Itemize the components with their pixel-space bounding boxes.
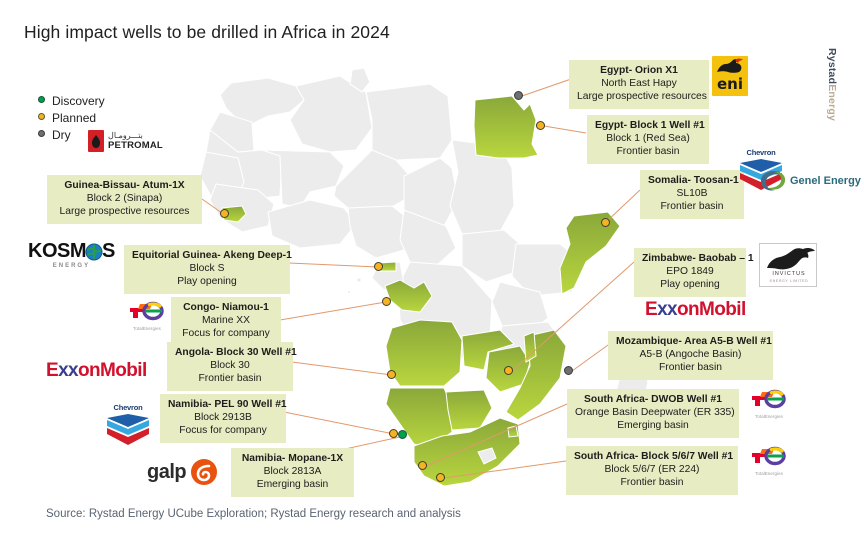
- marker-angola-block30[interactable]: [387, 370, 396, 379]
- callout-mozambique-a5b[interactable]: Mozambique- Area A5-B Well #1 A5-B (Ango…: [608, 331, 773, 380]
- exxon-e: E: [645, 299, 657, 320]
- legend-label-dry: Dry: [52, 128, 71, 142]
- kosmos-tagline: ENERGY: [28, 263, 115, 269]
- callout-line2: Block 2813A: [239, 465, 346, 478]
- callout-title: Mozambique- Area A5-B Well #1: [616, 335, 765, 348]
- totalenergies-wordmark: TotalEnergies: [748, 414, 790, 419]
- discovery-dot-icon: [38, 96, 45, 103]
- logo-exxonmobil-angola: ExxonMobil: [46, 360, 147, 382]
- marker-namibia-mopane[interactable]: [398, 430, 407, 439]
- callout-egypt-orion[interactable]: Egypt- Orion X1 North East Hapy Large pr…: [569, 60, 709, 109]
- callout-title: South Africa- DWOB Well #1: [575, 393, 731, 406]
- callout-line2: A5-B (Angoche Basin): [616, 348, 765, 361]
- logo-invictus-energy: INVICTUS ENERGY LIMITED: [759, 243, 817, 287]
- exxon-on: on: [677, 299, 699, 320]
- totalenergies-wordmark: TotalEnergies: [126, 326, 168, 331]
- kosmos-globe-icon: [85, 243, 103, 261]
- callout-angola-block30[interactable]: Angola- Block 30 Well #1 Block 30 Fronti…: [167, 342, 293, 391]
- leader-somalia: [606, 190, 640, 222]
- callout-line3: Emerging basin: [239, 478, 346, 491]
- callout-line2: EPO 1849: [642, 265, 738, 278]
- chevron-wordmark: Chevron: [738, 148, 784, 157]
- totalenergies-mark-icon: [126, 300, 168, 322]
- callout-line2: Block 2913B: [168, 411, 278, 424]
- callout-line2: Block 5/6/7 (ER 224): [574, 463, 730, 476]
- invictus-tagline: ENERGY LIMITED: [760, 279, 818, 283]
- logo-genel-energy: Genel Energy: [758, 168, 861, 194]
- totalenergies-mark-icon: [748, 445, 790, 467]
- callout-line2: Block 1 (Red Sea): [595, 132, 701, 145]
- marker-namibia-pel90[interactable]: [389, 429, 398, 438]
- callout-line2: Block 30: [175, 359, 285, 372]
- leader-angola: [292, 362, 392, 375]
- callout-guinea-bissau-atum[interactable]: Guinea-Bissau- Atum-1X Block 2 (Sinapa) …: [47, 175, 202, 224]
- callout-line3: Emerging basin: [575, 419, 731, 432]
- callout-line3: Focus for company: [168, 424, 278, 437]
- callout-title: Namibia- Mopane-1X: [239, 452, 346, 465]
- callout-title: Zimbabwe- Baobab – 1: [642, 252, 738, 265]
- genel-wordmark: Genel Energy: [790, 175, 861, 187]
- galp-wordmark: galp: [147, 461, 186, 484]
- leader-congo: [280, 302, 386, 320]
- logo-eni: eni: [712, 56, 748, 96]
- callout-title: South Africa- Block 5/6/7 Well #1: [574, 450, 730, 463]
- country-malawi: [524, 332, 536, 362]
- genel-swirl-icon: [758, 168, 788, 194]
- marker-sa-dwob[interactable]: [418, 461, 427, 470]
- callout-line3: Frontier basin: [175, 372, 285, 385]
- country-somalia: [560, 212, 620, 294]
- callout-title: Angola- Block 30 Well #1: [175, 346, 285, 359]
- callout-title: Congo- Niamou-1: [179, 301, 273, 314]
- exxon-e: E: [46, 360, 58, 381]
- callout-line3: Frontier basin: [616, 361, 765, 374]
- callout-title: Namibia- PEL 90 Well #1: [168, 398, 278, 411]
- callout-sa-block567[interactable]: South Africa- Block 5/6/7 Well #1 Block …: [566, 446, 738, 495]
- source-note: Source: Rystad Energy UCube Exploration;…: [46, 508, 461, 520]
- kosmos-wordmark-right: S: [102, 240, 115, 263]
- marker-congo-niamou[interactable]: [382, 297, 391, 306]
- logo-exxonmobil-mozambique: ExxonMobil: [645, 299, 746, 321]
- planned-dot-icon: [38, 113, 45, 120]
- country-angola: [386, 320, 462, 386]
- dry-dot-icon: [38, 130, 45, 137]
- marker-eq-guinea-akeng[interactable]: [374, 262, 383, 271]
- callout-line3: Frontier basin: [574, 476, 730, 489]
- callout-eq-guinea-akeng[interactable]: Equitorial Guinea- Akeng Deep-1 Block S …: [124, 245, 290, 294]
- callout-line3: Play opening: [132, 275, 282, 288]
- callout-line2: Block S: [132, 262, 282, 275]
- invictus-logo-box: INVICTUS ENERGY LIMITED: [759, 243, 817, 287]
- petromal-arabic-text: بتـــرومـال: [108, 131, 163, 140]
- callout-title: Equitorial Guinea- Akeng Deep-1: [132, 249, 282, 262]
- exxon-xx: xx: [657, 299, 677, 320]
- callout-title: Guinea-Bissau- Atum-1X: [55, 179, 194, 192]
- callout-sa-dwob[interactable]: South Africa- DWOB Well #1 Orange Basin …: [567, 389, 739, 438]
- logo-chevron-namibia: Chevron: [105, 403, 151, 447]
- logo-galp: galp: [147, 458, 218, 486]
- callout-egypt-block1[interactable]: Egypt- Block 1 Well #1 Block 1 (Red Sea)…: [587, 115, 709, 164]
- eni-logo-box: eni: [712, 56, 748, 96]
- chevron-hallmark-icon: [105, 412, 151, 448]
- exxon-mobil: Mobil: [699, 299, 746, 320]
- exxon-mobil: Mobil: [100, 360, 147, 381]
- exxon-xx: xx: [58, 360, 78, 381]
- marker-guinea-bissau-atum[interactable]: [220, 209, 229, 218]
- callout-namibia-mopane[interactable]: Namibia- Mopane-1X Block 2813A Emerging …: [231, 448, 354, 497]
- marker-zimbabwe-baobab[interactable]: [504, 366, 513, 375]
- leader-eq-guinea: [289, 263, 378, 267]
- logo-totalenergies-congo: TotalEnergies: [126, 300, 168, 331]
- marker-sa-block567[interactable]: [436, 473, 445, 482]
- exxon-on: on: [78, 360, 100, 381]
- logo-totalenergies-sa-dwob: TotalEnergies: [748, 388, 790, 419]
- legend-label-planned: Planned: [52, 111, 96, 125]
- callout-title: Egypt- Block 1 Well #1: [595, 119, 701, 132]
- marker-egypt-block1[interactable]: [536, 121, 545, 130]
- slide-canvas: High impact wells to be drilled in Afric…: [0, 0, 864, 533]
- leader-egypt-orion: [522, 78, 574, 96]
- galp-flame-icon: [190, 458, 218, 486]
- eni-wordmark: eni: [712, 75, 748, 93]
- leader-egypt-block1: [544, 126, 586, 133]
- logo-kosmos-energy: KOSM S ENERGY: [28, 240, 115, 269]
- invictus-wordmark: INVICTUS: [760, 271, 818, 277]
- callout-line3: Play opening: [642, 278, 738, 291]
- totalenergies-wordmark: TotalEnergies: [748, 471, 790, 476]
- callout-line3: Frontier basin: [595, 145, 701, 158]
- country-egypt: [474, 96, 538, 158]
- callout-line3: Large prospective resources: [577, 90, 701, 103]
- callout-somalia-toosan[interactable]: Somalia- Toosan-1 SL10B Frontier basin: [640, 170, 744, 219]
- callout-congo-niamou[interactable]: Congo- Niamou-1 Marine XX Focus for comp…: [171, 297, 281, 346]
- invictus-horse-icon: [761, 246, 817, 274]
- leader-mozambique: [572, 345, 608, 371]
- callout-line2: Block 2 (Sinapa): [55, 192, 194, 205]
- eni-six-legged-dog-icon: [716, 58, 744, 75]
- petromal-flame-icon: [88, 130, 104, 152]
- callout-zimbabwe-baobab[interactable]: Zimbabwe- Baobab – 1 EPO 1849 Play openi…: [634, 248, 746, 297]
- callout-line3: Frontier basin: [648, 200, 736, 213]
- marker-somalia-toosan[interactable]: [601, 218, 610, 227]
- chevron-wordmark: Chevron: [105, 403, 151, 412]
- callout-line3: Focus for company: [179, 327, 273, 340]
- marker-mozambique-a5b[interactable]: [564, 366, 573, 375]
- callout-line2: Marine XX: [179, 314, 273, 327]
- callout-line2: SL10B: [648, 187, 736, 200]
- callout-line2: Orange Basin Deepwater (ER 335): [575, 406, 731, 419]
- petromal-wordmark: PETROMAL: [108, 140, 163, 151]
- logo-totalenergies-sa-block567: TotalEnergies: [748, 445, 790, 476]
- callout-title: Egypt- Orion X1: [577, 64, 701, 77]
- kosmos-wordmark-left: KOSM: [28, 240, 86, 263]
- marker-egypt-orion[interactable]: [514, 91, 523, 100]
- logo-petromal: بتـــرومـال PETROMAL: [88, 130, 163, 152]
- country-botswana: [446, 390, 492, 430]
- totalenergies-mark-icon: [748, 388, 790, 410]
- callout-line2: North East Hapy: [577, 77, 701, 90]
- callout-line3: Large prospective resources: [55, 205, 194, 218]
- leader-namibia-pel90: [284, 412, 394, 434]
- legend-label-discovery: Discovery: [52, 94, 105, 108]
- callout-title: Somalia- Toosan-1: [648, 174, 736, 187]
- callout-namibia-pel90[interactable]: Namibia- PEL 90 Well #1 Block 2913B Focu…: [160, 394, 286, 443]
